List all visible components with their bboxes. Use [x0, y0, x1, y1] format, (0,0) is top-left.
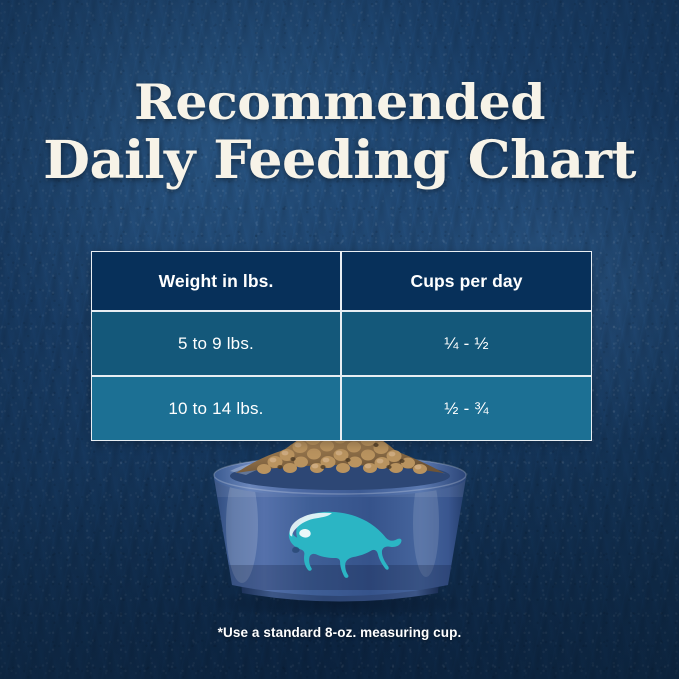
column-header-weight: Weight in lbs. [91, 251, 341, 311]
feeding-chart-table: Weight in lbs. Cups per day 5 to 9 lbs. … [91, 251, 592, 441]
footnote-text: *Use a standard 8-oz. measuring cup. [0, 625, 679, 640]
cell-cups: ½ - ¾ [341, 376, 592, 441]
table-body: 5 to 9 lbs. ¼ - ½ 10 to 14 lbs. ½ - ¾ [91, 311, 592, 441]
feeding-chart-poster: Recommended Daily Feeding Chart Weight i… [0, 0, 679, 679]
dog-bowl-illustration [180, 415, 500, 625]
page-title: Recommended Daily Feeding Chart [0, 74, 679, 191]
dog-bowl-image [180, 415, 500, 625]
table-row: 5 to 9 lbs. ¼ - ½ [91, 311, 592, 376]
cell-cups: ¼ - ½ [341, 311, 592, 376]
table-header-row: Weight in lbs. Cups per day [91, 251, 592, 311]
title-line-1: Recommended [0, 74, 679, 130]
cell-weight: 5 to 9 lbs. [91, 311, 341, 376]
cell-weight: 10 to 14 lbs. [91, 376, 341, 441]
column-header-cups: Cups per day [341, 251, 592, 311]
table-row: 10 to 14 lbs. ½ - ¾ [91, 376, 592, 441]
table-header: Weight in lbs. Cups per day [91, 251, 592, 311]
title-line-2: Daily Feeding Chart [0, 131, 679, 191]
